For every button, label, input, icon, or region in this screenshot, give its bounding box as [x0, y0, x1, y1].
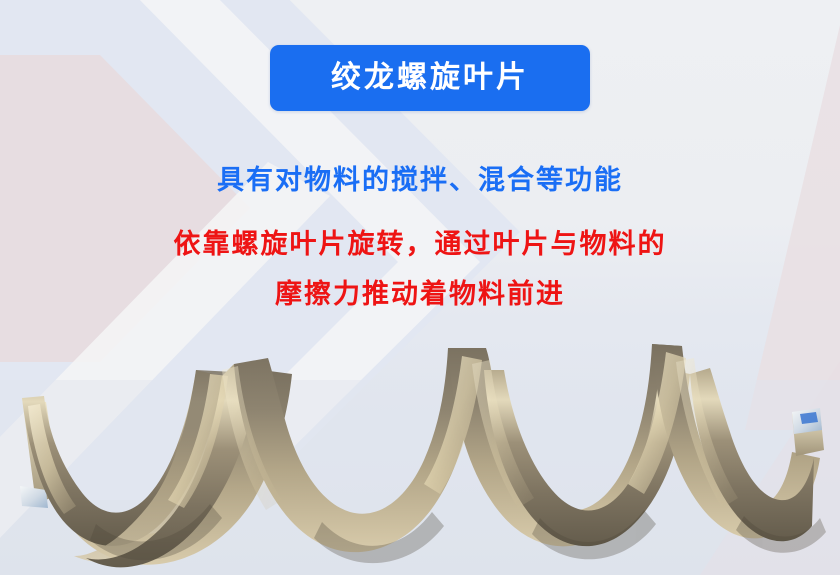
title-badge: 绞龙螺旋叶片 [270, 45, 590, 111]
promo-banner: 绞龙螺旋叶片 具有对物料的搅拌、混合等功能 依靠螺旋叶片旋转，通过叶片与物料的 … [0, 0, 840, 575]
product-image-auger [0, 318, 840, 575]
auger-helix [20, 344, 826, 567]
badge-title-text: 绞龙螺旋叶片 [331, 63, 529, 93]
description-line-2: 依靠螺旋叶片旋转，通过叶片与物料的 [0, 222, 840, 261]
helix-end-label-mark [800, 412, 818, 424]
description-line-1: 具有对物料的搅拌、混合等功能 [0, 158, 840, 197]
description-line-3: 摩擦力推动着物料前进 [0, 272, 840, 311]
chevron-pink-left [0, 55, 250, 362]
